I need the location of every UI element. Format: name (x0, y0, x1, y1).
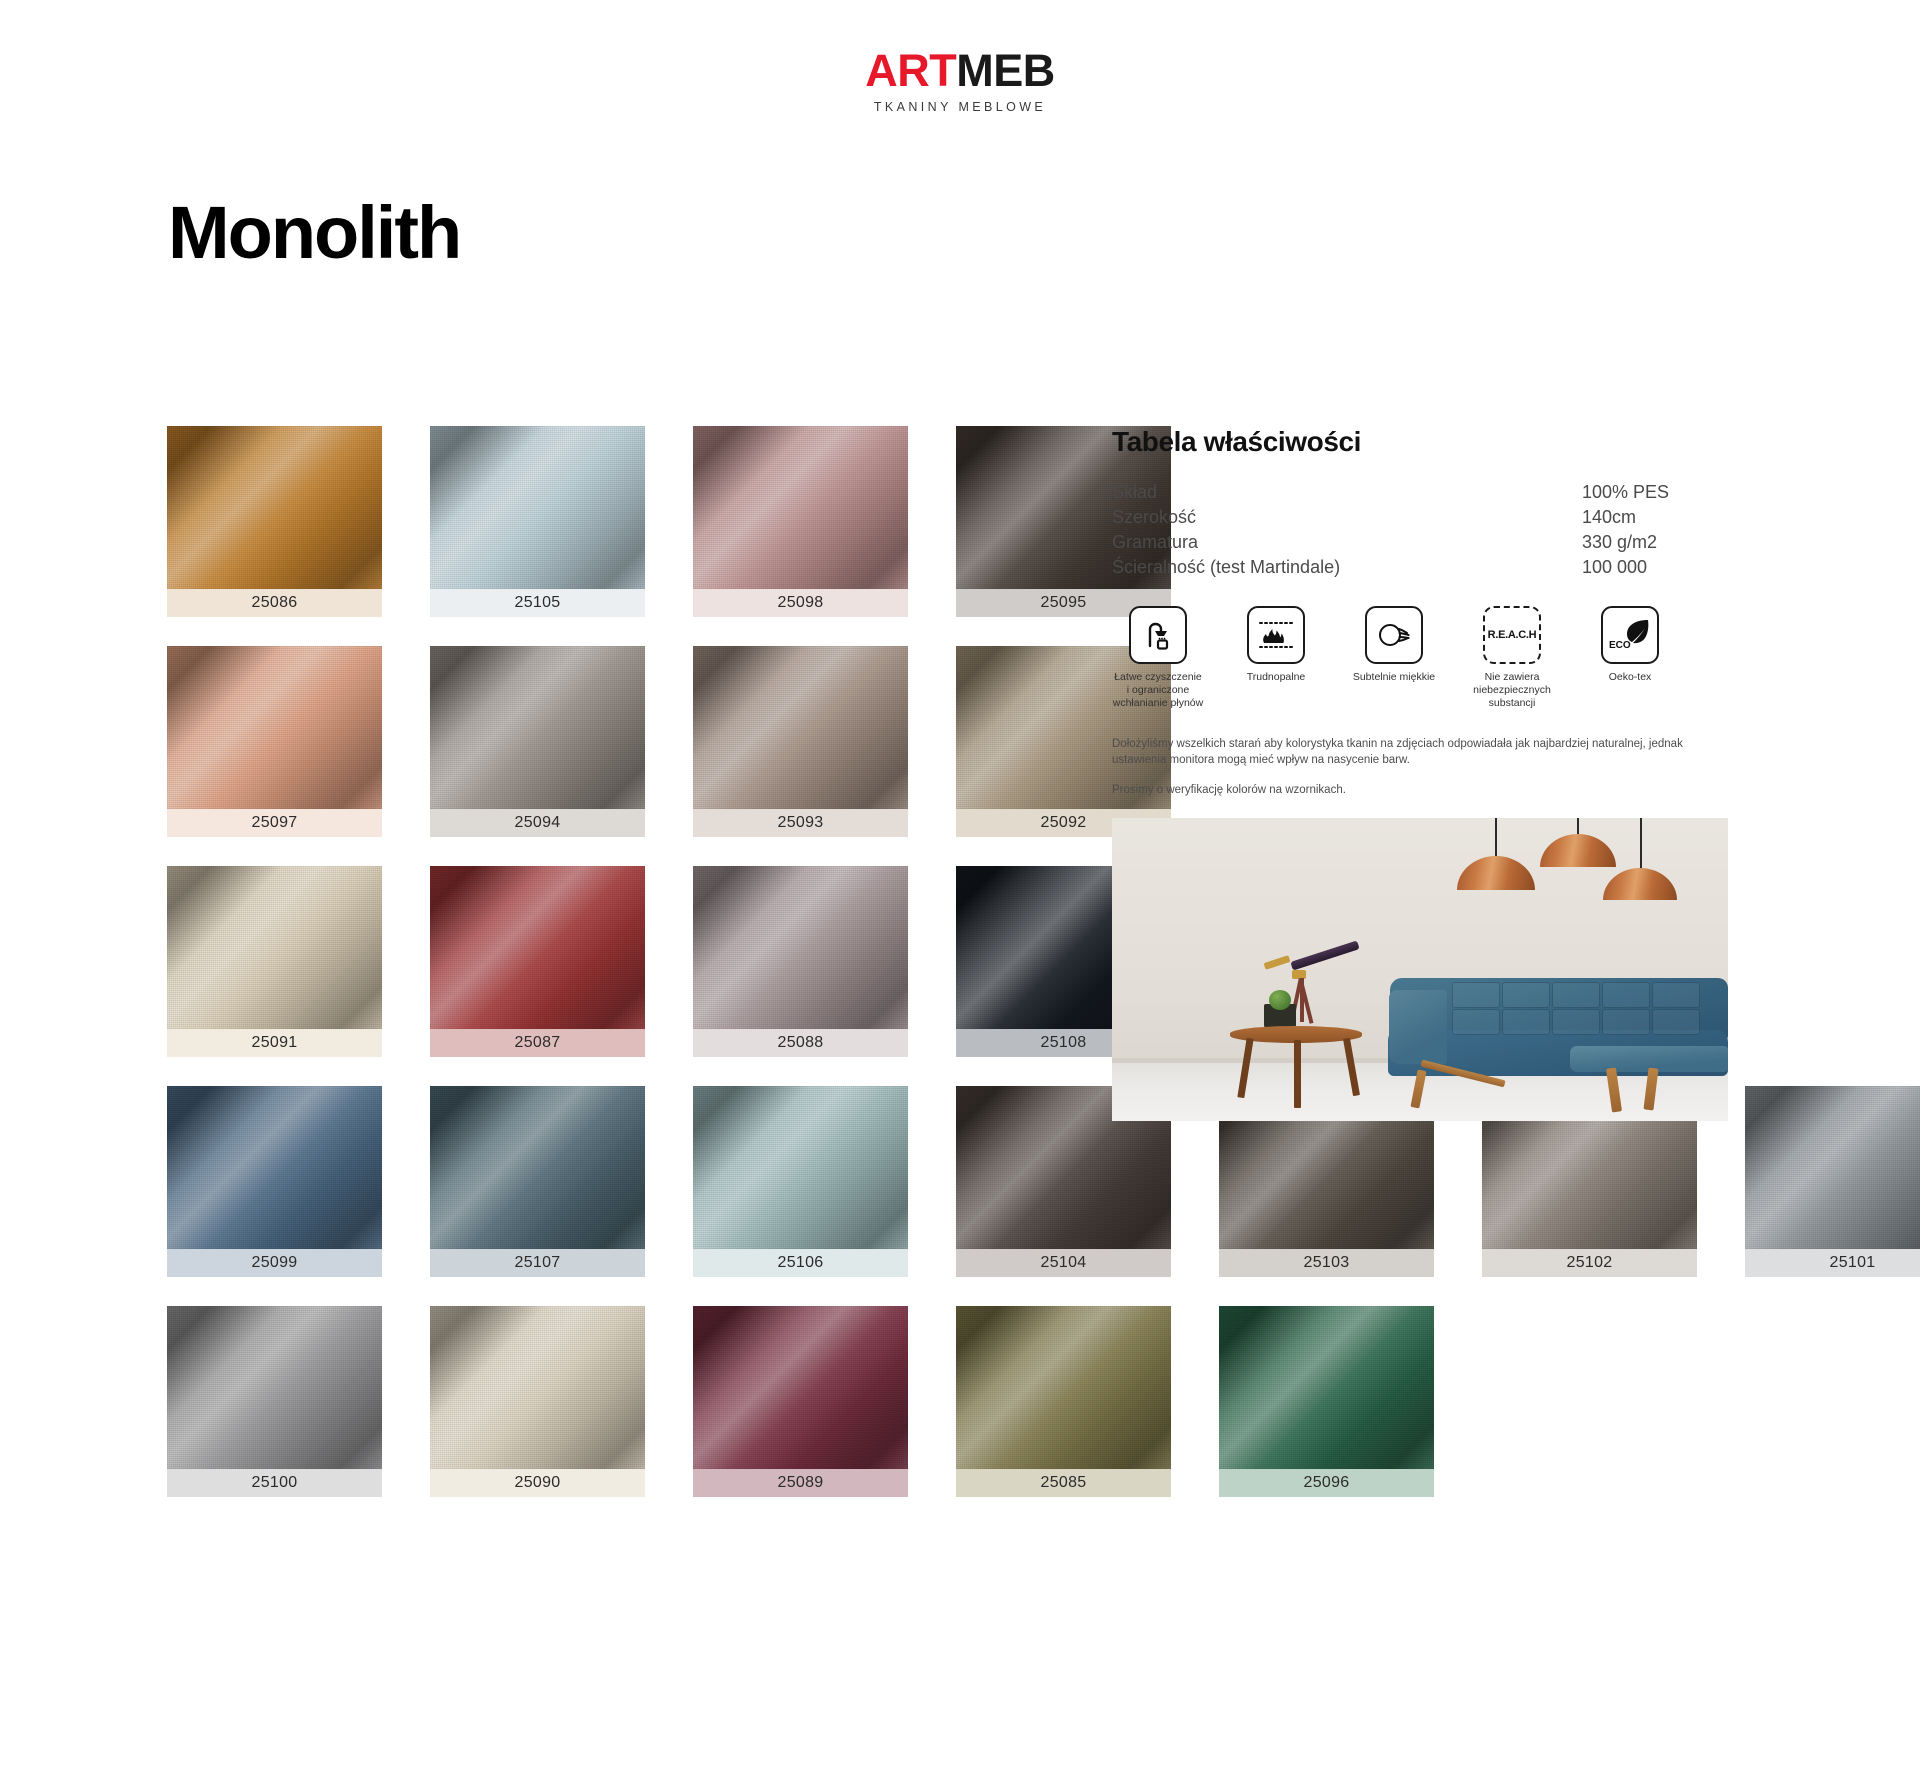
fabric-swatch[interactable]: 25107 (430, 1086, 645, 1277)
property-name: Gramatura (1112, 530, 1198, 555)
fabric-swatch[interactable]: 25099 (167, 1086, 382, 1277)
logo-tagline: TKANINY MEBLOWE (0, 100, 1920, 114)
fabric-swatch[interactable]: 25091 (167, 866, 382, 1057)
swatch-fabric-image (430, 1306, 645, 1469)
feature-icon-cell: Łatwe czyszczenie i ograniczone wchłania… (1112, 606, 1204, 710)
feature-icon-row: Łatwe czyszczenie i ograniczone wchłania… (1112, 606, 1732, 710)
feature-icon-caption: Trudnopalne (1247, 671, 1306, 684)
softness-icon (1365, 606, 1423, 664)
sofa-tuft (1452, 982, 1500, 1008)
fabric-swatch[interactable]: 25097 (167, 646, 382, 837)
swatch-code-label: 25102 (1482, 1249, 1697, 1277)
swatch-fabric-image (1745, 1086, 1920, 1249)
swatch-code-label: 25093 (693, 809, 908, 837)
fabric-swatch[interactable]: 25100 (167, 1306, 382, 1497)
fabric-swatch[interactable]: 25093 (693, 646, 908, 837)
swatch-fabric-image (693, 866, 908, 1029)
feature-icon-caption: Oeko-tex (1609, 671, 1652, 684)
swatch-fabric-image (430, 426, 645, 589)
swatch-fabric-image (167, 866, 382, 1029)
swatch-code-label: 25106 (693, 1249, 908, 1277)
swatch-code-label: 25098 (693, 589, 908, 617)
swatch-code-label: 25086 (167, 589, 382, 617)
logo-art-text: ART (865, 45, 956, 96)
sofa-tuft (1502, 1009, 1550, 1035)
swatch-code-label: 25087 (430, 1029, 645, 1057)
flame-icon (1247, 606, 1305, 664)
properties-table: Skład100% PESSzerokość140cmGramatura330 … (1112, 480, 1732, 580)
property-name: Ścieralność (test Martindale) (1112, 555, 1340, 580)
swatch-fabric-image (956, 1306, 1171, 1469)
sofa-armrest (1389, 990, 1447, 1064)
sofa-tuft (1552, 1009, 1600, 1035)
property-name: Szerokość (1112, 505, 1196, 530)
sofa-tuft (1652, 1009, 1700, 1035)
fabric-swatch[interactable]: 25086 (167, 426, 382, 617)
swatch-fabric-image (167, 1086, 382, 1249)
property-name: Skład (1112, 480, 1157, 505)
sofa-tuft (1602, 1009, 1650, 1035)
swatch-fabric-image (167, 1306, 382, 1469)
swatch-code-label: 25089 (693, 1469, 908, 1497)
sofa-tuft (1552, 982, 1600, 1008)
feature-icon-cell: Subtelnie miękkie (1348, 606, 1440, 710)
swatch-fabric-image (1219, 1306, 1434, 1469)
swatch-code-label: 25090 (430, 1469, 645, 1497)
swatch-code-label: 25091 (167, 1029, 382, 1057)
swatch-fabric-image (167, 646, 382, 809)
swatch-code-label: 25104 (956, 1249, 1171, 1277)
fabric-swatch[interactable]: 25098 (693, 426, 908, 617)
disclaimer-text: Dołożyliśmy wszelkich starań aby kolorys… (1112, 736, 1728, 798)
feature-icon-cell: Trudnopalne (1230, 606, 1322, 710)
swatch-row: 2510025090250892508525096 (167, 1306, 1747, 1497)
swatch-code-label: 25100 (167, 1469, 382, 1497)
properties-title: Tabela właściwości (1112, 426, 1732, 458)
telescope-tripod-leg-3 (1300, 978, 1304, 1022)
swatch-fabric-image (693, 1306, 908, 1469)
property-value: 140cm (1582, 505, 1732, 530)
sofa-tuft (1502, 982, 1550, 1008)
swatch-code-label: 25101 (1745, 1249, 1920, 1277)
fabric-swatch[interactable]: 25085 (956, 1306, 1171, 1497)
disclaimer-line-1: Dołożyliśmy wszelkich starań aby kolorys… (1112, 736, 1728, 768)
property-row: Gramatura330 g/m2 (1112, 530, 1732, 555)
swatch-code-label: 25105 (430, 589, 645, 617)
eco-leaf-icon: ECO (1601, 606, 1659, 664)
eco-badge-text: ECO (1609, 640, 1631, 651)
property-value: 100 000 (1582, 555, 1732, 580)
feature-icon-caption: Subtelnie miękkie (1353, 671, 1435, 684)
swatch-fabric-image (430, 866, 645, 1029)
disclaimer-line-2: Prosimy o weryfikację kolorów na wzornik… (1112, 782, 1728, 798)
fabric-swatch[interactable]: 25087 (430, 866, 645, 1057)
pendant-cord-1 (1495, 818, 1497, 858)
swatch-code-label: 25103 (1219, 1249, 1434, 1277)
swatch-code-label: 25094 (430, 809, 645, 837)
property-row: Szerokość140cm (1112, 505, 1732, 530)
feature-icon-cell: R.E.A.C.HNie zawiera niebezpiecznych sub… (1466, 606, 1558, 710)
fabric-swatch[interactable]: 25094 (430, 646, 645, 837)
swatch-fabric-image (430, 1086, 645, 1249)
feature-icon-cell: ECOOeko-tex (1584, 606, 1676, 710)
sofa-tuft (1602, 982, 1650, 1008)
reach-badge-text: R.E.A.C.H (1488, 629, 1537, 641)
brand-logo: ARTMEB TKANINY MEBLOWE (0, 48, 1920, 114)
fabric-swatch[interactable]: 25088 (693, 866, 908, 1057)
feature-icon-caption: Nie zawiera niebezpiecznych substancji (1466, 671, 1558, 710)
swatch-code-label: 25085 (956, 1469, 1171, 1497)
property-value: 100% PES (1582, 480, 1732, 505)
interior-photo (1112, 818, 1728, 1121)
side-table-leg-3 (1294, 1040, 1301, 1108)
property-row: Ścieralność (test Martindale)100 000 (1112, 555, 1732, 580)
swatch-code-label: 25088 (693, 1029, 908, 1057)
swatch-code-label: 25107 (430, 1249, 645, 1277)
cactus-plant (1269, 990, 1291, 1010)
property-row: Skład100% PES (1112, 480, 1732, 505)
swatch-fabric-image (693, 426, 908, 589)
swatch-code-label: 25096 (1219, 1469, 1434, 1497)
property-value: 330 g/m2 (1582, 530, 1732, 555)
sofa-tuft (1452, 1009, 1500, 1035)
fabric-swatch[interactable]: 25101 (1745, 1086, 1920, 1277)
swatch-fabric-image (430, 646, 645, 809)
swatch-fabric-image (167, 426, 382, 589)
fabric-swatch[interactable]: 25089 (693, 1306, 908, 1497)
swatch-code-label: 25097 (167, 809, 382, 837)
logo-wordmark: ARTMEB (0, 48, 1920, 93)
fabric-swatch[interactable]: 25105 (430, 426, 645, 617)
properties-panel: Tabela właściwości Skład100% PESSzerokoś… (1112, 426, 1732, 1121)
logo-meb-text: MEB (956, 45, 1055, 96)
fabric-swatch[interactable]: 25096 (1219, 1306, 1434, 1497)
shower-cleaning-icon (1129, 606, 1187, 664)
fabric-swatch[interactable]: 25090 (430, 1306, 645, 1497)
fabric-swatch[interactable]: 25106 (693, 1086, 908, 1277)
swatch-fabric-image (693, 1086, 908, 1249)
sofa-tuft (1652, 982, 1700, 1008)
page-title: Monolith (168, 196, 460, 270)
swatch-code-label: 25099 (167, 1249, 382, 1277)
pendant-cord-3 (1640, 818, 1642, 870)
swatch-fabric-image (693, 646, 908, 809)
feature-icon-caption: Łatwe czyszczenie i ograniczone wchłania… (1112, 671, 1204, 710)
reach-icon: R.E.A.C.H (1483, 606, 1541, 664)
